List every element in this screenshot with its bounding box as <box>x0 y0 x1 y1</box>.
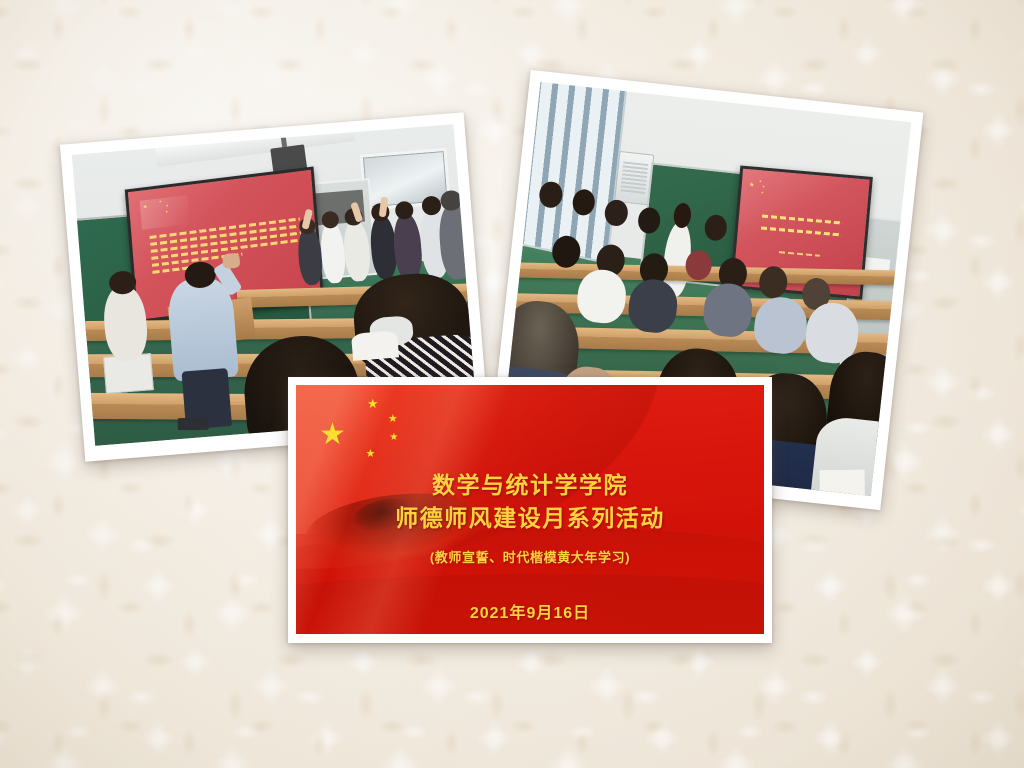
photo-collage-canvas: ★★ ★★ <box>0 0 1024 768</box>
screen-flag-corner: ★★ ★★ <box>139 195 189 229</box>
slide-subtitle: (教师宣誓、时代楷模黄大年学习) <box>430 547 630 566</box>
title-slide-photo[interactable]: ★ ★ ★ ★ ★ 数学与统计学学院 师德师风建设月系列活动 (教师宣誓、时代楷… <box>288 377 772 643</box>
title-slide-image: ★ ★ ★ ★ ★ 数学与统计学学院 师德师风建设月系列活动 (教师宣誓、时代楷… <box>296 385 764 634</box>
slide-title-line-1: 数学与统计学学院 <box>432 472 628 498</box>
raised-fist <box>222 253 240 269</box>
slide-title-line-2: 师德师风建设月系列活动 <box>395 502 665 535</box>
slide-date: 2021年9月16日 <box>470 599 590 623</box>
phone-on-desk <box>178 417 209 429</box>
white-collar <box>351 331 399 361</box>
slide-title: 数学与统计学学院 师德师风建设月系列活动 <box>395 469 665 536</box>
paper-sheet <box>819 470 864 496</box>
slide-text-block: 数学与统计学学院 师德师风建设月系列活动 (教师宣誓、时代楷模黄大年学习) 20… <box>296 385 764 634</box>
